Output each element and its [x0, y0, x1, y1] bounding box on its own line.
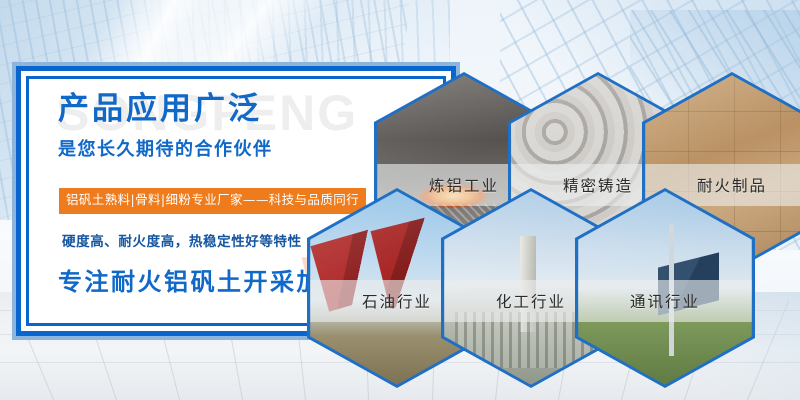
- hex-label: 通讯行业: [575, 280, 755, 322]
- hexagon-gallery: 炼铝工业精密铸造耐火制品石油行业化工行业通讯行业: [0, 0, 800, 400]
- banner-stage: SONGFENG W 产品应用广泛 是您长久期待的合作伙伴 铝矾土熟料|骨料|细…: [0, 0, 800, 400]
